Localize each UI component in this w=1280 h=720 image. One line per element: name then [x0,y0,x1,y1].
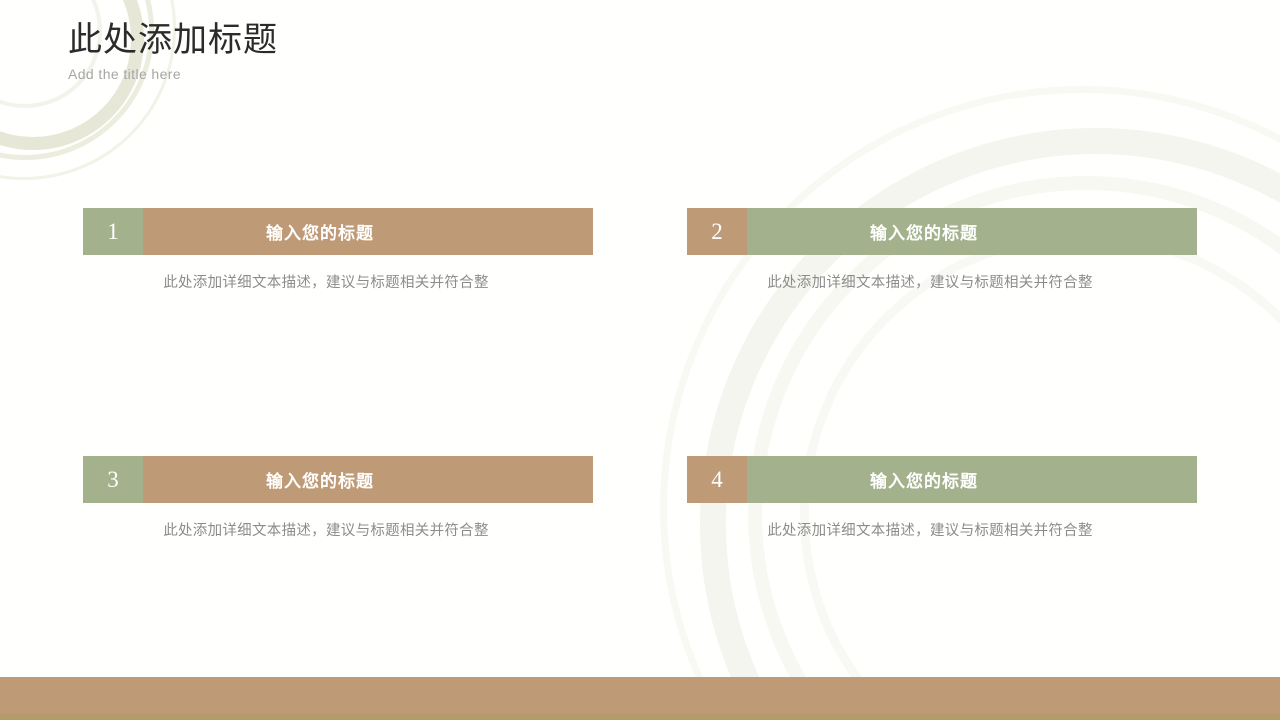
item-title-3: 输入您的标题 [143,456,593,503]
item-title-4: 输入您的标题 [747,456,1197,503]
item-number-badge-3: 3 [83,456,143,503]
item-description-4: 此处添加详细文本描述，建议与标题相关并符合整 [687,519,1197,540]
list-item-3[interactable]: 3 输入您的标题 此处添加详细文本描述，建议与标题相关并符合整 [83,456,593,540]
item-title-2: 输入您的标题 [747,208,1197,255]
items-grid: 1 输入您的标题 此处添加详细文本描述，建议与标题相关并符合整 2 输入您的标题… [83,208,1197,540]
footer-bar [0,677,1280,716]
item-title-1: 输入您的标题 [143,208,593,255]
item-bar-1[interactable]: 1 输入您的标题 [83,208,593,255]
item-bar-3[interactable]: 3 输入您的标题 [83,456,593,503]
item-description-1: 此处添加详细文本描述，建议与标题相关并符合整 [83,271,593,292]
list-item-4[interactable]: 4 输入您的标题 此处添加详细文本描述，建议与标题相关并符合整 [687,456,1197,540]
footer-accent-strip [0,714,1280,720]
list-item-2[interactable]: 2 输入您的标题 此处添加详细文本描述，建议与标题相关并符合整 [687,208,1197,292]
item-number-badge-4: 4 [687,456,747,503]
slide-header: 此处添加标题 Add the title here [68,20,278,84]
item-description-2: 此处添加详细文本描述，建议与标题相关并符合整 [687,271,1197,292]
page-subtitle: Add the title here [68,64,278,84]
item-number-badge-2: 2 [687,208,747,255]
slide-canvas: 此处添加标题 Add the title here 1 输入您的标题 此处添加详… [0,0,1280,720]
item-bar-4[interactable]: 4 输入您的标题 [687,456,1197,503]
items-row-bottom: 3 输入您的标题 此处添加详细文本描述，建议与标题相关并符合整 4 输入您的标题… [83,456,1197,540]
item-description-3: 此处添加详细文本描述，建议与标题相关并符合整 [83,519,593,540]
item-bar-2[interactable]: 2 输入您的标题 [687,208,1197,255]
items-row-top: 1 输入您的标题 此处添加详细文本描述，建议与标题相关并符合整 2 输入您的标题… [83,208,1197,292]
list-item-1[interactable]: 1 输入您的标题 此处添加详细文本描述，建议与标题相关并符合整 [83,208,593,292]
item-number-badge-1: 1 [83,208,143,255]
page-title: 此处添加标题 [68,20,278,62]
